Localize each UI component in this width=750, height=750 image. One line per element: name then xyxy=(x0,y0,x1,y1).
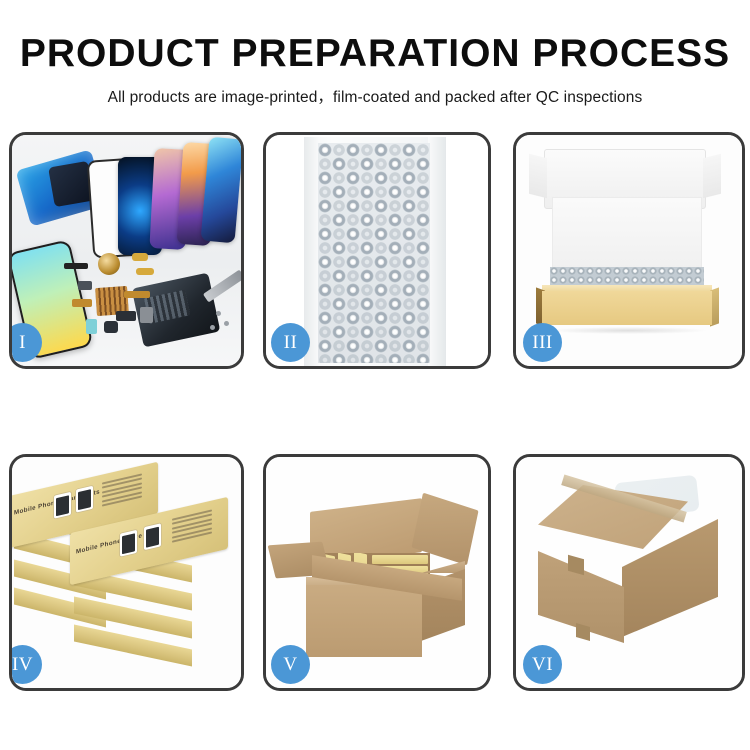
screw-icon xyxy=(216,311,221,316)
mailer-box-icon xyxy=(542,291,712,325)
yellow-box-icon xyxy=(372,555,428,564)
part-icon xyxy=(86,319,97,334)
part-icon xyxy=(72,299,92,307)
phone-thumbnail-icon xyxy=(76,486,93,513)
carton-front-panel xyxy=(306,585,422,657)
step-badge-3: III xyxy=(523,323,562,362)
process-step-grid: I II xyxy=(0,132,750,692)
drop-shadow xyxy=(550,327,706,334)
step-panel-4: Mobile Phone Spare Parts Mobile Phone Sp… xyxy=(9,454,244,691)
phone-thumbnail-icon xyxy=(144,523,161,550)
step-panel-5: V xyxy=(263,454,491,691)
part-icon xyxy=(132,253,148,261)
part-icon xyxy=(78,281,92,290)
page-title: PRODUCT PREPARATION PROCESS xyxy=(0,34,750,73)
bubble-wrap-icon xyxy=(318,143,430,363)
box-checklist xyxy=(102,473,142,508)
step-panel-1: I xyxy=(9,132,244,369)
screw-icon xyxy=(210,325,215,330)
step-4-image: Mobile Phone Spare Parts Mobile Phone Sp… xyxy=(12,457,241,688)
box-checklist xyxy=(172,509,212,544)
part-icon xyxy=(124,291,150,298)
wrap-edge-right xyxy=(428,137,446,369)
step-panel-6: VI xyxy=(513,454,745,691)
step-badge-5: V xyxy=(271,645,310,684)
page-subtitle: All products are image-printed，film-coat… xyxy=(0,85,750,107)
part-icon xyxy=(116,311,136,321)
foam-sheet-icon xyxy=(552,197,702,271)
step-badge-2: II xyxy=(271,323,310,362)
step-panel-3: III xyxy=(513,132,745,369)
coil-icon xyxy=(98,253,120,275)
phone-thumbnail-icon xyxy=(120,530,137,557)
phone-thumbnail-icon xyxy=(54,492,71,519)
part-icon xyxy=(64,263,88,269)
part-icon xyxy=(136,268,154,275)
step-panel-2: II xyxy=(263,132,491,369)
step-1-image xyxy=(12,135,241,366)
product-preparation-process-page: PRODUCT PREPARATION PROCESS All products… xyxy=(0,0,750,750)
screw-icon xyxy=(224,321,229,326)
part-icon xyxy=(140,307,153,323)
page-header: PRODUCT PREPARATION PROCESS All products… xyxy=(0,0,750,120)
step-badge-6: VI xyxy=(523,645,562,684)
part-icon xyxy=(104,321,118,333)
